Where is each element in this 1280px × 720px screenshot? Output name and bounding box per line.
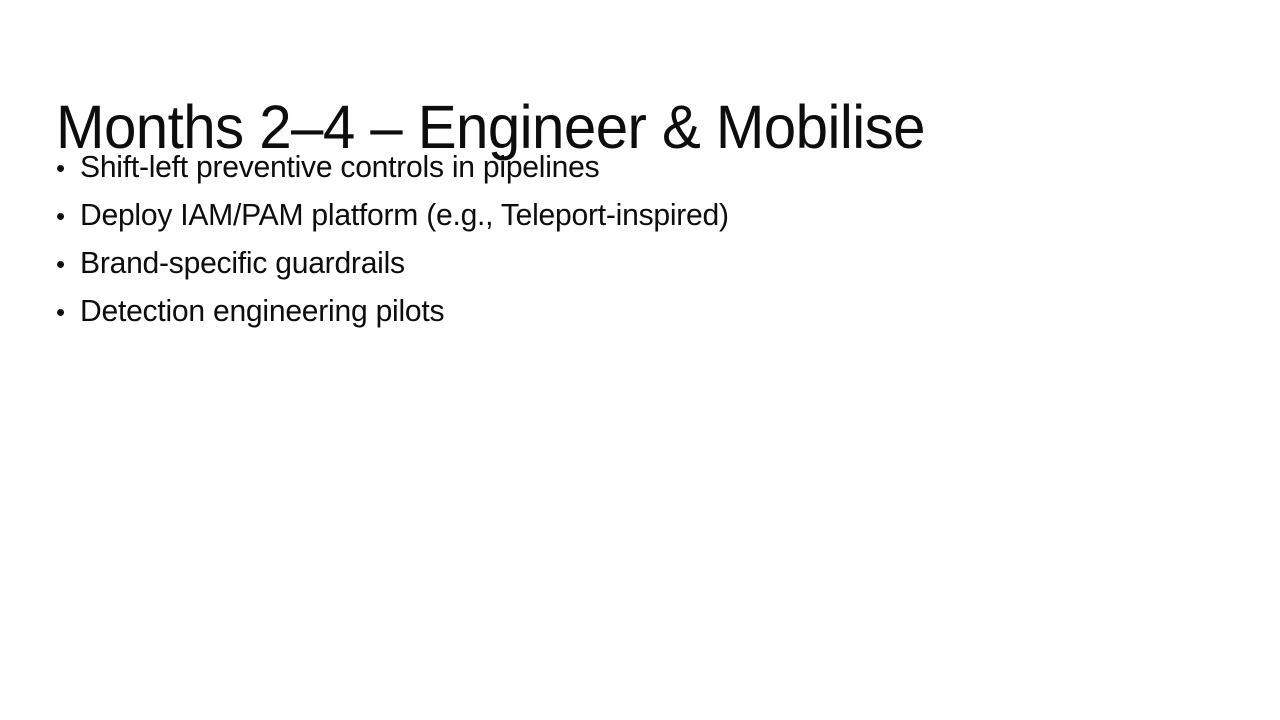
bullet-list: • Shift-left preventive controls in pipe… [56, 143, 1236, 335]
list-item: • Detection engineering pilots [56, 287, 1236, 335]
list-item-label: Detection engineering pilots [80, 287, 444, 335]
bullet-icon: • [56, 192, 80, 240]
list-item: • Deploy IAM/PAM platform (e.g., Telepor… [56, 191, 1236, 239]
slide-canvas: Months 2–4 – Engineer & Mobilise • Shift… [0, 0, 1280, 720]
list-item-label: Deploy IAM/PAM platform (e.g., Teleport-… [80, 191, 729, 239]
list-item: • Brand-specific guardrails [56, 239, 1236, 287]
bullet-icon: • [56, 288, 80, 336]
list-item: • Shift-left preventive controls in pipe… [56, 143, 1236, 191]
bullet-icon: • [56, 144, 80, 192]
list-item-label: Shift-left preventive controls in pipeli… [80, 143, 599, 191]
list-item-label: Brand-specific guardrails [80, 239, 405, 287]
bullet-icon: • [56, 240, 80, 288]
